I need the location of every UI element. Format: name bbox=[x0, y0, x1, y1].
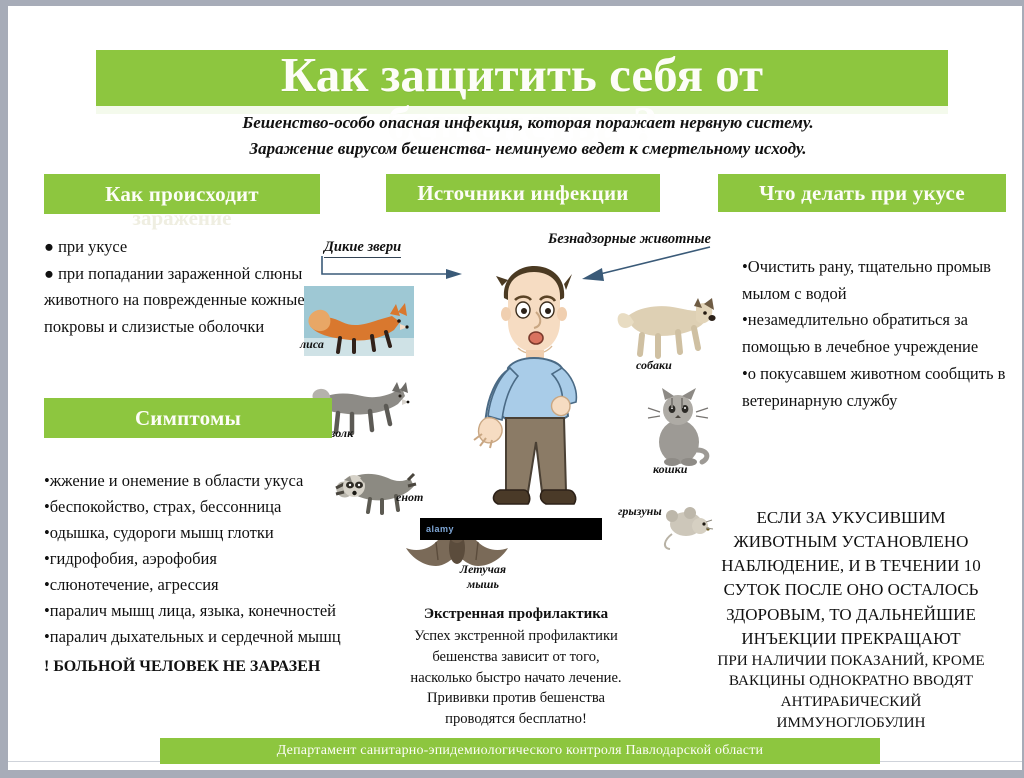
prophylaxis-line-2: бешенства зависит от того, bbox=[380, 647, 652, 668]
list-item: •одышка, судороги мышц глотки bbox=[44, 520, 374, 546]
label-fox: лиса bbox=[300, 337, 324, 352]
observation-small-3: АНТИРАБИЧЕСКИЙ bbox=[686, 692, 1016, 713]
what-to-do-list: •Очистить рану, тщательно промыв мылом с… bbox=[742, 254, 1010, 414]
observation-small-1: ПРИ НАЛИЧИИ ПОКАЗАНИЙ, КРОМЕ bbox=[686, 651, 1016, 672]
arrow-wild-to-human bbox=[320, 254, 470, 290]
raccoon-illustration bbox=[330, 456, 418, 516]
prophylaxis-block: Экстренная профилактика Успех экстренной… bbox=[380, 604, 652, 730]
label-rodents: грызуны bbox=[618, 504, 662, 519]
subtitle-line-2: Заражение вирусом бешенства- неминуемо в… bbox=[128, 136, 928, 162]
observation-line-5: ЗДОРОВЫМ, ТО ДАЛЬНЕЙШИЕ bbox=[686, 603, 1016, 627]
heading-symptoms: Симптомы bbox=[44, 398, 332, 438]
list-item: •паралич мышц лица, языка, конечностей bbox=[44, 598, 374, 624]
observation-small-4: ИММУНОГЛОБУЛИН bbox=[686, 713, 1016, 734]
title-banner bbox=[96, 50, 948, 114]
label-cats: кошки bbox=[653, 462, 687, 477]
list-item: •незамедлительно обратиться за помощью в… bbox=[742, 307, 1010, 360]
list-item: •беспокойство, страх, бессонница bbox=[44, 494, 374, 520]
subtitle: Бешенство-особо опасная инфекция, котора… bbox=[128, 110, 928, 163]
list-item: •о покусавшем животном сообщить в ветери… bbox=[742, 361, 1010, 414]
heading-sources: Источники инфекции bbox=[386, 174, 660, 212]
prophylaxis-title: Экстренная профилактика bbox=[380, 604, 652, 625]
observation-small-2: ВАКЦИНЫ ОДНОКРАТНО ВВОДЯТ bbox=[686, 671, 1016, 692]
symptoms-list: •жжение и онемение в области укуса •бесп… bbox=[44, 468, 374, 680]
label-stray-animals: Безнадзорные животные bbox=[548, 231, 711, 248]
observation-line-1: ЕСЛИ ЗА УКУСИВШИМ bbox=[686, 506, 1016, 530]
observation-line-2: ЖИВОТНЫМ УСТАНОВЛЕНО bbox=[686, 530, 1016, 554]
label-dogs: собаки bbox=[636, 358, 672, 373]
list-item: ● при укусе bbox=[44, 234, 344, 261]
label-bat-line-2: мышь bbox=[456, 577, 510, 592]
label-wild-animals: Дикие звери bbox=[324, 239, 401, 258]
rodent-illustration bbox=[660, 506, 716, 550]
prophylaxis-line-4: Прививки против бешенства bbox=[380, 688, 652, 709]
list-item: •Очистить рану, тщательно промыв мылом с… bbox=[742, 254, 1010, 307]
subtitle-line-1: Бешенство-особо опасная инфекция, котора… bbox=[128, 110, 928, 136]
observation-line-4: СУТОК ПОСЛЕ ОНО ОСТАЛОСЬ bbox=[686, 578, 1016, 602]
label-bat: Летучая мышь bbox=[456, 562, 510, 592]
heading-how-infection: Как происходит bbox=[44, 174, 320, 214]
label-raccoon: енот bbox=[396, 490, 423, 505]
footer-banner: Департамент санитарно-эпидемиологическог… bbox=[160, 738, 880, 764]
dog-illustration bbox=[608, 282, 718, 360]
how-infection-list: ● при укусе ● при попадании зараженной с… bbox=[44, 234, 344, 341]
observation-line-3: НАБЛЮДЕНИЕ, И В ТЕЧЕНИИ 10 bbox=[686, 554, 1016, 578]
list-item: •слюнотечение, агрессия bbox=[44, 572, 374, 598]
scared-man-illustration bbox=[468, 256, 600, 518]
list-item: •паралич дыхательных и сердечной мышц bbox=[44, 624, 374, 650]
heading-what-to-do: Что делать при укусе bbox=[718, 174, 1006, 212]
cat-illustration bbox=[644, 388, 714, 466]
alamy-watermark-bar: alamy bbox=[420, 518, 602, 540]
list-item: ● при попадании зараженной слюны животно… bbox=[44, 261, 344, 341]
observation-note: ЕСЛИ ЗА УКУСИВШИМ ЖИВОТНЫМ УСТАНОВЛЕНО Н… bbox=[686, 506, 1016, 733]
observation-line-6: ИНЪЕКЦИИ ПРЕКРАЩАЮТ bbox=[686, 627, 1016, 651]
prophylaxis-line-3: насколько быстро начато лечение. bbox=[380, 668, 652, 689]
symptoms-warning: ! БОЛЬНОЙ ЧЕЛОВЕК НЕ ЗАРАЗЕН bbox=[44, 654, 374, 679]
poster-canvas: Как защитить себя от бешенства ? Бешенст… bbox=[8, 6, 1022, 770]
label-wolf: волк bbox=[330, 426, 353, 441]
prophylaxis-line-1: Успех экстренной профилактики bbox=[380, 626, 652, 647]
list-item: •жжение и онемение в области укуса bbox=[44, 468, 374, 494]
prophylaxis-line-5: проводятся бесплатно! bbox=[380, 709, 652, 730]
label-bat-line-1: Летучая bbox=[456, 562, 510, 577]
list-item: •гидрофобия, аэрофобия bbox=[44, 546, 374, 572]
